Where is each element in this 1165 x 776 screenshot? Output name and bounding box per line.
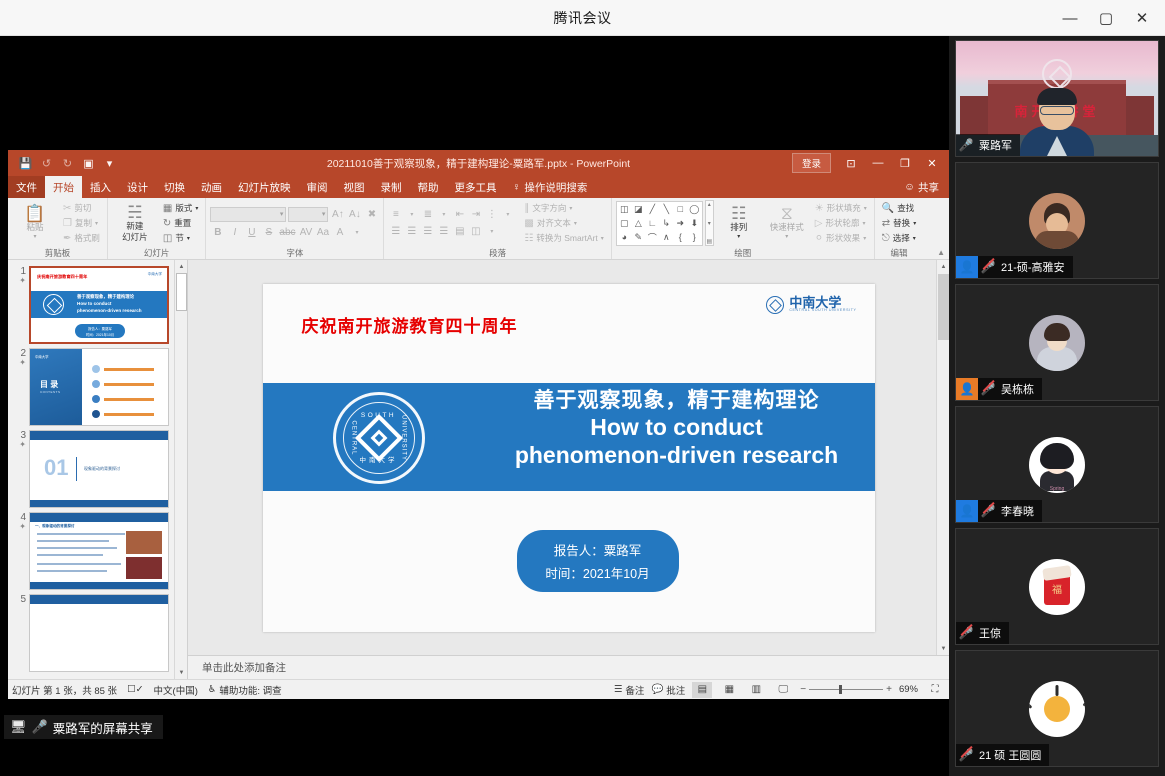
strikethrough-icon[interactable]: abc bbox=[278, 225, 296, 240]
copy-chevron-down-icon: ▾ bbox=[95, 220, 98, 227]
shape-effects-button[interactable]: ⚪ 形状效果 ▾ bbox=[812, 231, 870, 245]
curve-shape-icon[interactable]: ∧ bbox=[660, 231, 673, 244]
left-brace-shape-icon[interactable]: { bbox=[674, 231, 687, 244]
clipboard-group-title: 剪贴板 bbox=[12, 247, 103, 259]
tab-record[interactable]: 录制 bbox=[373, 176, 410, 198]
zoom-slider[interactable]: − + bbox=[800, 684, 892, 695]
mini-logo-2: 中南大学 bbox=[35, 354, 49, 359]
drawing-group-title: 绘图 bbox=[616, 247, 870, 259]
arrange-chevron-down-icon: ▾ bbox=[737, 234, 740, 241]
participant-name-1: 粟路军 bbox=[976, 137, 1012, 153]
format-painter-label: 格式刷 bbox=[74, 232, 100, 244]
participant-name-2: 21-硕-高雅安 bbox=[998, 259, 1065, 275]
status-bar-right: ☰ 备注 💬 批注 ▤ ▦ ▥ 🖵 − bbox=[614, 682, 945, 698]
numbering-chevron-down-icon[interactable]: ▾ bbox=[436, 207, 451, 222]
ribbon-home: 📋 粘贴 ▾ ✂ 剪切 ❐ 复制 ▾ bbox=[8, 198, 949, 260]
section-button[interactable]: ◫ 节 ▾ bbox=[160, 231, 201, 245]
participant-badge-icon-2: 👤 bbox=[956, 256, 978, 278]
italic-icon[interactable]: I bbox=[227, 225, 242, 240]
reset-button[interactable]: ↻ 重置 bbox=[160, 216, 201, 230]
participant-tile-2[interactable]: 👤 🎤 21-硕-高雅安 bbox=[955, 162, 1159, 279]
shape-outline-icon: ▷ bbox=[815, 218, 823, 229]
presenter-video-figure bbox=[1020, 90, 1094, 156]
animation-star-icon-1: ✦ bbox=[19, 277, 26, 286]
slide-heading-en-1: How to conduct bbox=[493, 414, 861, 442]
microphone-muted-icon-4[interactable]: 🎤 bbox=[978, 504, 998, 518]
paragraph-group-title: 段落 bbox=[388, 247, 606, 259]
mini-date-line: 时间：2021年10月 bbox=[86, 332, 114, 337]
increase-font-size-icon[interactable]: A↑ bbox=[330, 207, 345, 222]
align-text-label: 对齐文本 bbox=[537, 217, 571, 229]
thumbnail-scroll-thumb[interactable] bbox=[176, 273, 187, 311]
microphone-icon: 🎤 bbox=[32, 719, 48, 735]
mini-header-4 bbox=[30, 513, 168, 522]
animation-star-icon-2: ✦ bbox=[19, 359, 26, 368]
smartart-icon: ☷ bbox=[524, 233, 533, 244]
mini-text-line-4-2 bbox=[37, 540, 109, 542]
meeting-maximize-button[interactable]: ▢ bbox=[1089, 3, 1123, 33]
copy-button[interactable]: ❐ 复制 ▾ bbox=[60, 216, 103, 230]
arrange-icon: ☷ bbox=[731, 205, 746, 222]
bullets-chevron-down-icon[interactable]: ▾ bbox=[404, 207, 419, 222]
quick-styles-icon: ⧖ bbox=[781, 205, 793, 222]
mini-section-number-3: 01 bbox=[44, 457, 68, 479]
cursor-select-icon: ⎋ bbox=[882, 233, 890, 244]
textbox-shape-icon[interactable]: ◫ bbox=[618, 203, 631, 216]
align-center-icon[interactable]: ☰ bbox=[404, 224, 419, 239]
ribbon-tabs: 文件 开始 插入 设计 切换 动画 幻灯片放映 审阅 视图 录制 帮助 更多工具… bbox=[8, 176, 949, 198]
start-slideshow-icon[interactable]: ▣ bbox=[79, 154, 98, 173]
arrange-label: 排列 bbox=[730, 223, 747, 233]
slide-seal-inner-ring: SOUTH CENTRAL UNIVERSITY 中南大学 bbox=[343, 402, 415, 474]
slide-large-seal-icon: SOUTH CENTRAL UNIVERSITY 中南大学 bbox=[333, 392, 425, 484]
slide-canvas-area[interactable]: 庆祝南开旅游教育四十周年 中南大学 CENTRAL SOUTH UNIVERSI… bbox=[188, 260, 949, 655]
microphone-muted-icon-2[interactable]: 🎤 bbox=[978, 260, 998, 274]
shape-fill-button[interactable]: ☀ 形状填充 ▾ bbox=[812, 201, 870, 215]
participant-badge-icon-3: 👤 bbox=[956, 378, 978, 400]
character-spacing-icon[interactable]: AV bbox=[299, 225, 314, 240]
university-logo: 中南大学 CENTRAL SOUTH UNIVERSITY bbox=[766, 296, 856, 314]
avatar4-tag: Spring bbox=[1029, 486, 1085, 492]
collapse-ribbon-icon[interactable]: ▲ bbox=[937, 248, 945, 257]
comments-label: 批注 bbox=[666, 683, 685, 697]
mini-toc-row-4 bbox=[92, 410, 154, 418]
quick-styles-label: 快速样式 bbox=[770, 223, 804, 233]
avatar3-hair bbox=[1044, 323, 1070, 341]
justify-icon[interactable]: ☰ bbox=[436, 224, 451, 239]
presenter-hair bbox=[1037, 88, 1077, 105]
zoom-slider-track[interactable] bbox=[809, 689, 883, 690]
down-arrow-shape-icon[interactable]: ⬇ bbox=[688, 217, 701, 230]
slide-heading-en-2: phenomenon-driven research bbox=[493, 442, 861, 470]
participant-avatar-6 bbox=[1029, 681, 1085, 737]
increase-indent-icon[interactable]: ⇥ bbox=[468, 207, 483, 222]
oval-shape-icon[interactable]: ◯ bbox=[688, 203, 701, 216]
tab-design[interactable]: 设计 bbox=[119, 176, 156, 198]
participant-name-6: 21 硕 王圆圆 bbox=[976, 747, 1041, 763]
paste-chevron-down-icon: ▾ bbox=[33, 234, 36, 241]
shapes-scroll-up-icon[interactable]: ▴ bbox=[708, 201, 711, 208]
zoom-level-label[interactable]: 69% bbox=[899, 684, 918, 695]
spellcheck-icon[interactable]: ☐✓ bbox=[127, 684, 143, 695]
font-color-icon[interactable]: A bbox=[333, 225, 348, 240]
align-text-icon: ▩ bbox=[524, 218, 533, 229]
editing-group-title: 编辑 bbox=[879, 247, 919, 259]
powerpoint-close-button[interactable]: ✕ bbox=[919, 152, 945, 174]
layout-button[interactable]: ▦ 版式 ▾ bbox=[160, 201, 201, 215]
current-slide[interactable]: 庆祝南开旅游教育四十周年 中南大学 CENTRAL SOUTH UNIVERSI… bbox=[263, 284, 875, 632]
thumbnail-preview-3[interactable]: 01 现象驱动的背景探讨 bbox=[29, 430, 169, 508]
thumbnail-scrollbar[interactable]: ▲ ▼ bbox=[174, 260, 187, 679]
clipboard-icon: 📋 bbox=[24, 205, 45, 222]
thumbnail-number-4-wrap: 4 ✦ bbox=[12, 512, 26, 532]
share-button[interactable]: ☺ 共享 bbox=[894, 176, 949, 198]
thumbnail-preview-1[interactable]: 庆祝南开旅游教育四十周年 中南大学 善于观察现象，精于建构理论 How to c… bbox=[29, 266, 169, 344]
mini-seal-icon-1 bbox=[43, 294, 64, 315]
line-spacing-icon[interactable]: ⋮ bbox=[484, 207, 499, 222]
participant-badge-icon-4: 👤 bbox=[956, 500, 978, 522]
shapes-gallery[interactable]: ◫ ◪ ╱ ╲ □ ◯ ▢ △ ∟ ↳ ➜ ⬇ ◕ bbox=[616, 201, 703, 246]
avatar6-sun-core bbox=[1044, 696, 1070, 722]
find-button[interactable]: 🔍 查找 bbox=[879, 201, 919, 215]
meeting-app-title: 腾讯会议 bbox=[554, 8, 612, 28]
presenter-info-box[interactable]: 报告人：粟路军 时间：2021年10月 bbox=[517, 530, 679, 592]
screen-share-label: 粟路军的屏幕共享 bbox=[53, 718, 153, 737]
font-name-chevron-down-icon: ▾ bbox=[280, 210, 284, 218]
participant-tile-1[interactable]: 南开 讲堂 论坛 🎤 粟路军 bbox=[955, 40, 1159, 157]
shadow-icon[interactable]: S bbox=[261, 225, 276, 240]
tab-view[interactable]: 视图 bbox=[336, 176, 373, 198]
zoom-in-button[interactable]: + bbox=[886, 684, 892, 695]
microphone-muted-icon-5[interactable]: 🎤 bbox=[956, 626, 976, 640]
quick-access-toolbar: 💾 ↺ ↻ ▣ ▾ bbox=[8, 154, 119, 173]
layout-chevron-down-icon: ▾ bbox=[195, 205, 198, 212]
slide-scroll-thumb[interactable] bbox=[938, 274, 949, 340]
slide-counter[interactable]: 幻灯片 第 1 张，共 85 张 bbox=[12, 683, 117, 697]
powerpoint-title-bar: 💾 ↺ ↻ ▣ ▾ 20211010善于观察现象，精于建构理论-粟路军.pptx… bbox=[8, 150, 949, 176]
accessibility-status[interactable]: ♿ 辅助功能: 调查 bbox=[208, 683, 282, 697]
tab-file[interactable]: 文件 bbox=[8, 176, 45, 198]
redo-icon[interactable]: ↻ bbox=[58, 154, 77, 173]
zoom-out-button[interactable]: − bbox=[800, 684, 806, 695]
paintbrush-icon: ✒ bbox=[63, 233, 71, 244]
mini-presenter-line: 报告人：粟路军 bbox=[88, 326, 112, 331]
smartart-chevron-down-icon: ▾ bbox=[601, 235, 604, 242]
mini-toc-bar-4 bbox=[104, 413, 154, 416]
mini-text-line-4-5 bbox=[37, 563, 121, 565]
slide-sorter-view-button[interactable]: ▦ bbox=[719, 682, 739, 698]
thumbnail-scroll-up-icon[interactable]: ▲ bbox=[175, 260, 188, 273]
thumbnail-number-3-wrap: 3 ✦ bbox=[12, 430, 26, 450]
presentation-date-line: 时间：2021年10月 bbox=[545, 563, 649, 582]
section-chevron-down-icon: ▾ bbox=[187, 235, 190, 242]
thumbnail-item-3[interactable]: 3 ✦ 01 现象驱动的背景探讨 bbox=[8, 428, 187, 510]
layout-label: 版式 bbox=[175, 202, 192, 214]
meeting-minimize-button[interactable]: — bbox=[1053, 3, 1087, 33]
rectangle-shape-icon[interactable]: □ bbox=[674, 203, 687, 216]
shape-fill-icon: ☀ bbox=[815, 203, 824, 214]
tab-review[interactable]: 审阅 bbox=[299, 176, 336, 198]
ribbon-group-drawing: ◫ ◪ ╱ ╲ □ ◯ ▢ △ ∟ ↳ ➜ ⬇ ◕ bbox=[612, 198, 875, 259]
mini-section-caption-3: 现象驱动的背景探讨 bbox=[84, 466, 120, 472]
notes-pane[interactable]: 单击此处添加备注 bbox=[188, 655, 949, 679]
thumbnail-item-2[interactable]: 2 ✦ 中南大学 目 录 CONTENTS bbox=[8, 346, 187, 428]
font-size-chevron-down-icon: ▾ bbox=[322, 210, 326, 218]
thumbnail-preview-4[interactable]: 一、现象驱动的背景探讨 bbox=[29, 512, 169, 590]
thumbnail-item-1[interactable]: 1 ✦ 庆祝南开旅游教育四十周年 中南大学 善于观察现象，精于建构理论 How … bbox=[8, 264, 187, 346]
tab-transitions[interactable]: 切换 bbox=[156, 176, 193, 198]
slideshow-view-button[interactable]: 🖵 bbox=[773, 682, 793, 698]
avatar6-ray-8 bbox=[1029, 699, 1032, 709]
notes-placeholder: 单击此处添加备注 bbox=[202, 660, 286, 675]
slide-heading-block[interactable]: 善于观察现象，精于建构理论 How to conduct phenomenon-… bbox=[493, 388, 861, 470]
vertical-textbox-shape-icon[interactable]: ◪ bbox=[632, 203, 645, 216]
right-arrow-shape-icon[interactable]: ➜ bbox=[674, 217, 687, 230]
meeting-title-bar: 腾讯会议 — ▢ ✕ bbox=[0, 0, 1165, 36]
thumbnail-scroll-down-icon[interactable]: ▼ bbox=[175, 666, 188, 679]
mini-heading-en1-1: How to conduct bbox=[77, 301, 111, 306]
replace-label: 替换 bbox=[893, 217, 910, 229]
mini-divider-3 bbox=[76, 457, 77, 481]
presenter-name-line: 报告人：粟路军 bbox=[554, 540, 642, 559]
line-shape-icon[interactable]: ╱ bbox=[646, 203, 659, 216]
participant-tile-4[interactable]: Spring 👤 🎤 李春晓 bbox=[955, 406, 1159, 523]
shape-effects-chevron-down-icon: ▾ bbox=[863, 235, 866, 242]
powerpoint-titlebar-right: 登录 ⊡ — ❐ ✕ bbox=[792, 152, 949, 174]
align-text-button[interactable]: ▩ 对齐文本 ▾ bbox=[521, 216, 606, 230]
mini-toc-dot-1 bbox=[92, 365, 100, 373]
align-left-icon[interactable]: ☰ bbox=[388, 224, 403, 239]
save-icon[interactable]: 💾 bbox=[16, 154, 35, 173]
participant-avatar-4: Spring bbox=[1029, 437, 1085, 493]
participant-label-bar-2: 👤 🎤 21-硕-高雅安 bbox=[956, 256, 1073, 278]
clear-formatting-icon[interactable]: ✖ bbox=[364, 207, 379, 222]
participant-name-4: 李春晓 bbox=[998, 503, 1034, 519]
slide-thumbnail-pane[interactable]: 1 ✦ 庆祝南开旅游教育四十周年 中南大学 善于观察现象，精于建构理论 How … bbox=[8, 260, 188, 679]
mini-heading-en2-1: phenomenon-driven research bbox=[77, 308, 142, 313]
find-label: 查找 bbox=[897, 202, 914, 214]
slides-group-title: 幻灯片 bbox=[112, 247, 201, 259]
text-direction-button[interactable]: ∥ 文字方向 ▾ bbox=[521, 201, 606, 215]
university-name-en: CENTRAL SOUTH UNIVERSITY bbox=[789, 309, 856, 313]
slide-vertical-scrollbar[interactable]: ▲ ▼ bbox=[936, 260, 949, 655]
microphone-muted-icon-3[interactable]: 🎤 bbox=[978, 382, 998, 396]
mini-toc-row-1 bbox=[92, 365, 154, 373]
shape-fill-chevron-down-icon: ▾ bbox=[864, 205, 867, 212]
language-indicator[interactable]: 中文(中国) bbox=[154, 683, 198, 697]
microphone-icon-1[interactable]: 🎤 bbox=[956, 138, 976, 152]
mini-toc-bar-1 bbox=[104, 368, 154, 371]
paste-button[interactable]: 📋 粘贴 ▾ bbox=[12, 203, 58, 243]
avatar6-ray-2 bbox=[1083, 696, 1085, 706]
tab-slideshow[interactable]: 幻灯片放映 bbox=[230, 176, 299, 198]
select-button[interactable]: ⎋ 选择 ▾ bbox=[879, 231, 919, 245]
mini-text-line-4-4 bbox=[37, 554, 103, 556]
pie-shape-icon[interactable]: ◕ bbox=[618, 231, 631, 244]
avatar6-ray-1 bbox=[1056, 685, 1059, 696]
tab-insert[interactable]: 插入 bbox=[82, 176, 119, 198]
mini-toc-title-cn: 目 录 bbox=[40, 379, 58, 390]
line-spacing-chevron-down-icon[interactable]: ▾ bbox=[500, 207, 515, 222]
participant-label-bar-1: 🎤 粟路军 bbox=[956, 134, 1020, 156]
ribbon-display-options-icon[interactable]: ⊡ bbox=[838, 152, 864, 174]
mini-title-4: 一、现象驱动的背景探讨 bbox=[35, 524, 75, 529]
elbow-connector-shape-icon[interactable]: ∟ bbox=[646, 217, 659, 230]
comments-toggle-button[interactable]: 💬 批注 bbox=[651, 683, 685, 697]
thumbnail-preview-5[interactable] bbox=[29, 594, 169, 672]
avatar4-hair bbox=[1040, 443, 1074, 469]
normal-view-button[interactable]: ▤ bbox=[692, 682, 712, 698]
undo-icon[interactable]: ↺ bbox=[37, 154, 56, 173]
participant-name-3: 吴栋栋 bbox=[998, 381, 1034, 397]
font-color-chevron-down-icon[interactable]: ▾ bbox=[350, 225, 365, 240]
format-painter-button[interactable]: ✒ 格式刷 bbox=[60, 231, 103, 245]
text-direction-icon: ∥ bbox=[524, 203, 529, 214]
new-slide-label-2: 幻灯片 bbox=[122, 233, 148, 243]
powerpoint-main-area: 1 ✦ 庆祝南开旅游教育四十周年 中南大学 善于观察现象，精于建构理论 How … bbox=[8, 260, 949, 679]
screen-share-icon: 🖥 bbox=[10, 719, 27, 735]
thumbnail-number-1-wrap: 1 ✦ bbox=[12, 266, 26, 286]
numbering-icon[interactable]: ≣ bbox=[420, 207, 435, 222]
new-slide-button[interactable]: ☵ 新建 幻灯片 bbox=[112, 202, 158, 245]
columns-chevron-down-icon[interactable]: ▾ bbox=[484, 224, 499, 239]
replace-icon: ⇄ bbox=[882, 218, 890, 229]
slide-banner-title[interactable]: 庆祝南开旅游教育四十周年 bbox=[302, 312, 518, 337]
participant-label-bar-4: 👤 🎤 李春晓 bbox=[956, 500, 1042, 522]
tab-help[interactable]: 帮助 bbox=[410, 176, 447, 198]
convert-smartart-button[interactable]: ☷ 转换为 SmartArt ▾ bbox=[521, 231, 606, 245]
ribbon-group-font: ▾ ▾ A↑ A↓ ✖ B bbox=[206, 198, 384, 259]
person-share-icon: ☺ bbox=[904, 181, 915, 193]
mini-heading-cn-1: 善于观察现象，精于建构理论 bbox=[77, 294, 134, 300]
elbow-arrow-shape-icon[interactable]: ↳ bbox=[660, 217, 673, 230]
avatar2-body bbox=[1035, 231, 1079, 249]
mini-photo-4-1 bbox=[126, 531, 162, 554]
cut-label: 剪切 bbox=[74, 202, 91, 214]
participant-label-bar-3: 👤 🎤 吴栋栋 bbox=[956, 378, 1042, 400]
line-arrow-shape-icon[interactable]: ╲ bbox=[660, 203, 673, 216]
participant-label-bar-5: 🎤 王倞 bbox=[956, 622, 1009, 644]
meeting-window-controls: — ▢ ✕ bbox=[1053, 0, 1159, 36]
font-name-combobox[interactable]: ▾ bbox=[210, 207, 286, 222]
participant-tile-3[interactable]: 👤 🎤 吴栋栋 bbox=[955, 284, 1159, 401]
quick-styles-button[interactable]: ⧖ 快速样式 ▾ bbox=[764, 203, 810, 243]
ribbon-group-slides: ☵ 新建 幻灯片 ▦ 版式 ▾ ↻ 重置 bbox=[108, 198, 206, 259]
section-label: 节 bbox=[175, 232, 184, 244]
decrease-font-size-icon[interactable]: A↓ bbox=[347, 207, 362, 222]
thumbnail-preview-2[interactable]: 中南大学 目 录 CONTENTS bbox=[29, 348, 169, 426]
microphone-muted-icon-6[interactable]: 🎤 bbox=[956, 748, 976, 762]
replace-button[interactable]: ⇄ 替换 ▾ bbox=[879, 216, 919, 230]
animation-star-icon-4: ✦ bbox=[19, 523, 26, 532]
mini-banner-title-1: 庆祝南开旅游教育四十周年 bbox=[37, 274, 87, 280]
tab-animations[interactable]: 动画 bbox=[193, 176, 230, 198]
mini-footer-4 bbox=[30, 582, 168, 589]
shapes-gallery-scrollbar[interactable]: ▴ ▾ ▤ bbox=[705, 200, 714, 246]
powerpoint-minimize-button[interactable]: — bbox=[865, 152, 891, 174]
arrange-button[interactable]: ☷ 排列 ▾ bbox=[716, 203, 762, 243]
reading-view-button[interactable]: ▥ bbox=[746, 682, 766, 698]
mini-text-line-4-1 bbox=[37, 533, 125, 535]
zoom-slider-knob[interactable] bbox=[839, 685, 842, 694]
layout-icon: ▦ bbox=[163, 203, 172, 214]
mini-text-line-4-3 bbox=[37, 547, 117, 549]
search-icon: 🔍 bbox=[882, 203, 894, 214]
mini-toc-dot-4 bbox=[92, 410, 100, 418]
bullets-icon[interactable]: ≡ bbox=[388, 207, 403, 222]
shape-effects-label: 形状效果 bbox=[826, 232, 860, 244]
slide-heading-cn: 善于观察现象，精于建构理论 bbox=[493, 388, 861, 415]
freeform-shape-icon[interactable]: ✎ bbox=[632, 231, 645, 244]
shapes-more-icon[interactable]: ▤ bbox=[706, 238, 712, 245]
avatar5-character: 福 bbox=[1052, 581, 1062, 596]
powerpoint-restore-button[interactable]: ❐ bbox=[892, 152, 918, 174]
align-right-icon[interactable]: ☰ bbox=[420, 224, 435, 239]
decrease-indent-icon[interactable]: ⇤ bbox=[452, 207, 467, 222]
font-size-combobox[interactable]: ▾ bbox=[288, 207, 328, 222]
animation-star-icon-3: ✦ bbox=[19, 441, 26, 450]
participant-tile-5[interactable]: 福 🎤 王倞 bbox=[955, 528, 1159, 645]
screen-share-indicator: 🖥 🎤 粟路军的屏幕共享 bbox=[4, 715, 163, 739]
meeting-close-button[interactable]: ✕ bbox=[1125, 3, 1159, 33]
participant-avatar-2 bbox=[1029, 193, 1085, 249]
slide-editor: 庆祝南开旅游教育四十周年 中南大学 CENTRAL SOUTH UNIVERSI… bbox=[188, 260, 949, 679]
notes-toggle-button[interactable]: ☰ 备注 bbox=[614, 683, 645, 697]
reset-icon: ↻ bbox=[163, 218, 171, 229]
cut-button[interactable]: ✂ 剪切 bbox=[60, 201, 103, 215]
thumbnail-number-2-wrap: 2 ✦ bbox=[12, 348, 26, 368]
replace-chevron-down-icon: ▾ bbox=[913, 220, 916, 227]
mini-header-5 bbox=[30, 595, 168, 604]
thumbnail-number-5-wrap: 5 bbox=[12, 594, 26, 605]
tencent-meeting-window: 腾讯会议 — ▢ ✕ 💾 ↺ ↻ ▣ ▾ 20211010善于观察现象，精于建构… bbox=[0, 0, 1165, 776]
align-text-chevron-down-icon: ▾ bbox=[574, 220, 577, 227]
accessibility-icon: ♿ bbox=[208, 684, 217, 695]
bold-icon[interactable]: B bbox=[210, 225, 225, 240]
underline-icon[interactable]: U bbox=[244, 225, 259, 240]
triangle-shape-icon[interactable]: △ bbox=[632, 217, 645, 230]
tab-home[interactable]: 开始 bbox=[45, 176, 82, 198]
paste-label: 粘贴 bbox=[26, 223, 43, 233]
arc-shape-icon[interactable]: ⌒ bbox=[646, 231, 659, 244]
right-brace-shape-icon[interactable]: } bbox=[688, 231, 701, 244]
rounded-rectangle-shape-icon[interactable]: ▢ bbox=[618, 217, 631, 230]
university-seal-icon bbox=[766, 296, 784, 314]
fit-to-window-icon[interactable]: ⛶ bbox=[925, 682, 945, 698]
thumbnail-number-5: 5 bbox=[20, 594, 26, 605]
new-slide-label-1: 新建 bbox=[126, 222, 143, 232]
shape-outline-chevron-down-icon: ▾ bbox=[863, 220, 866, 227]
signin-button[interactable]: 登录 bbox=[792, 153, 831, 173]
mini-toc-row-3 bbox=[92, 395, 154, 403]
participant-tile-6[interactable]: 🎤 21 硕 王圆圆 bbox=[955, 650, 1159, 767]
shapes-scroll-down-icon[interactable]: ▾ bbox=[708, 220, 711, 227]
change-case-icon[interactable]: Aa bbox=[316, 225, 331, 240]
customize-qat-icon[interactable]: ▾ bbox=[100, 154, 119, 173]
participant-avatar-5: 福 bbox=[1029, 559, 1085, 615]
columns-icon[interactable]: ◫ bbox=[468, 224, 483, 239]
distribute-icon[interactable]: ▤ bbox=[452, 224, 467, 239]
select-chevron-down-icon: ▾ bbox=[913, 235, 916, 242]
tab-more-tools[interactable]: 更多工具 bbox=[447, 176, 505, 198]
thumbnail-item-4[interactable]: 4 ✦ 一、现象驱动的背景探讨 bbox=[8, 510, 187, 592]
mini-logo-1: 中南大学 bbox=[148, 272, 162, 277]
tell-me-search[interactable]: ♀ 操作说明搜索 bbox=[505, 176, 588, 198]
thumbnail-item-5[interactable]: 5 bbox=[8, 592, 187, 674]
shape-outline-button[interactable]: ▷ 形状轮廓 ▾ bbox=[812, 216, 870, 230]
tell-me-label: 操作说明搜索 bbox=[524, 180, 587, 195]
mini-photo-4-2 bbox=[126, 557, 162, 579]
